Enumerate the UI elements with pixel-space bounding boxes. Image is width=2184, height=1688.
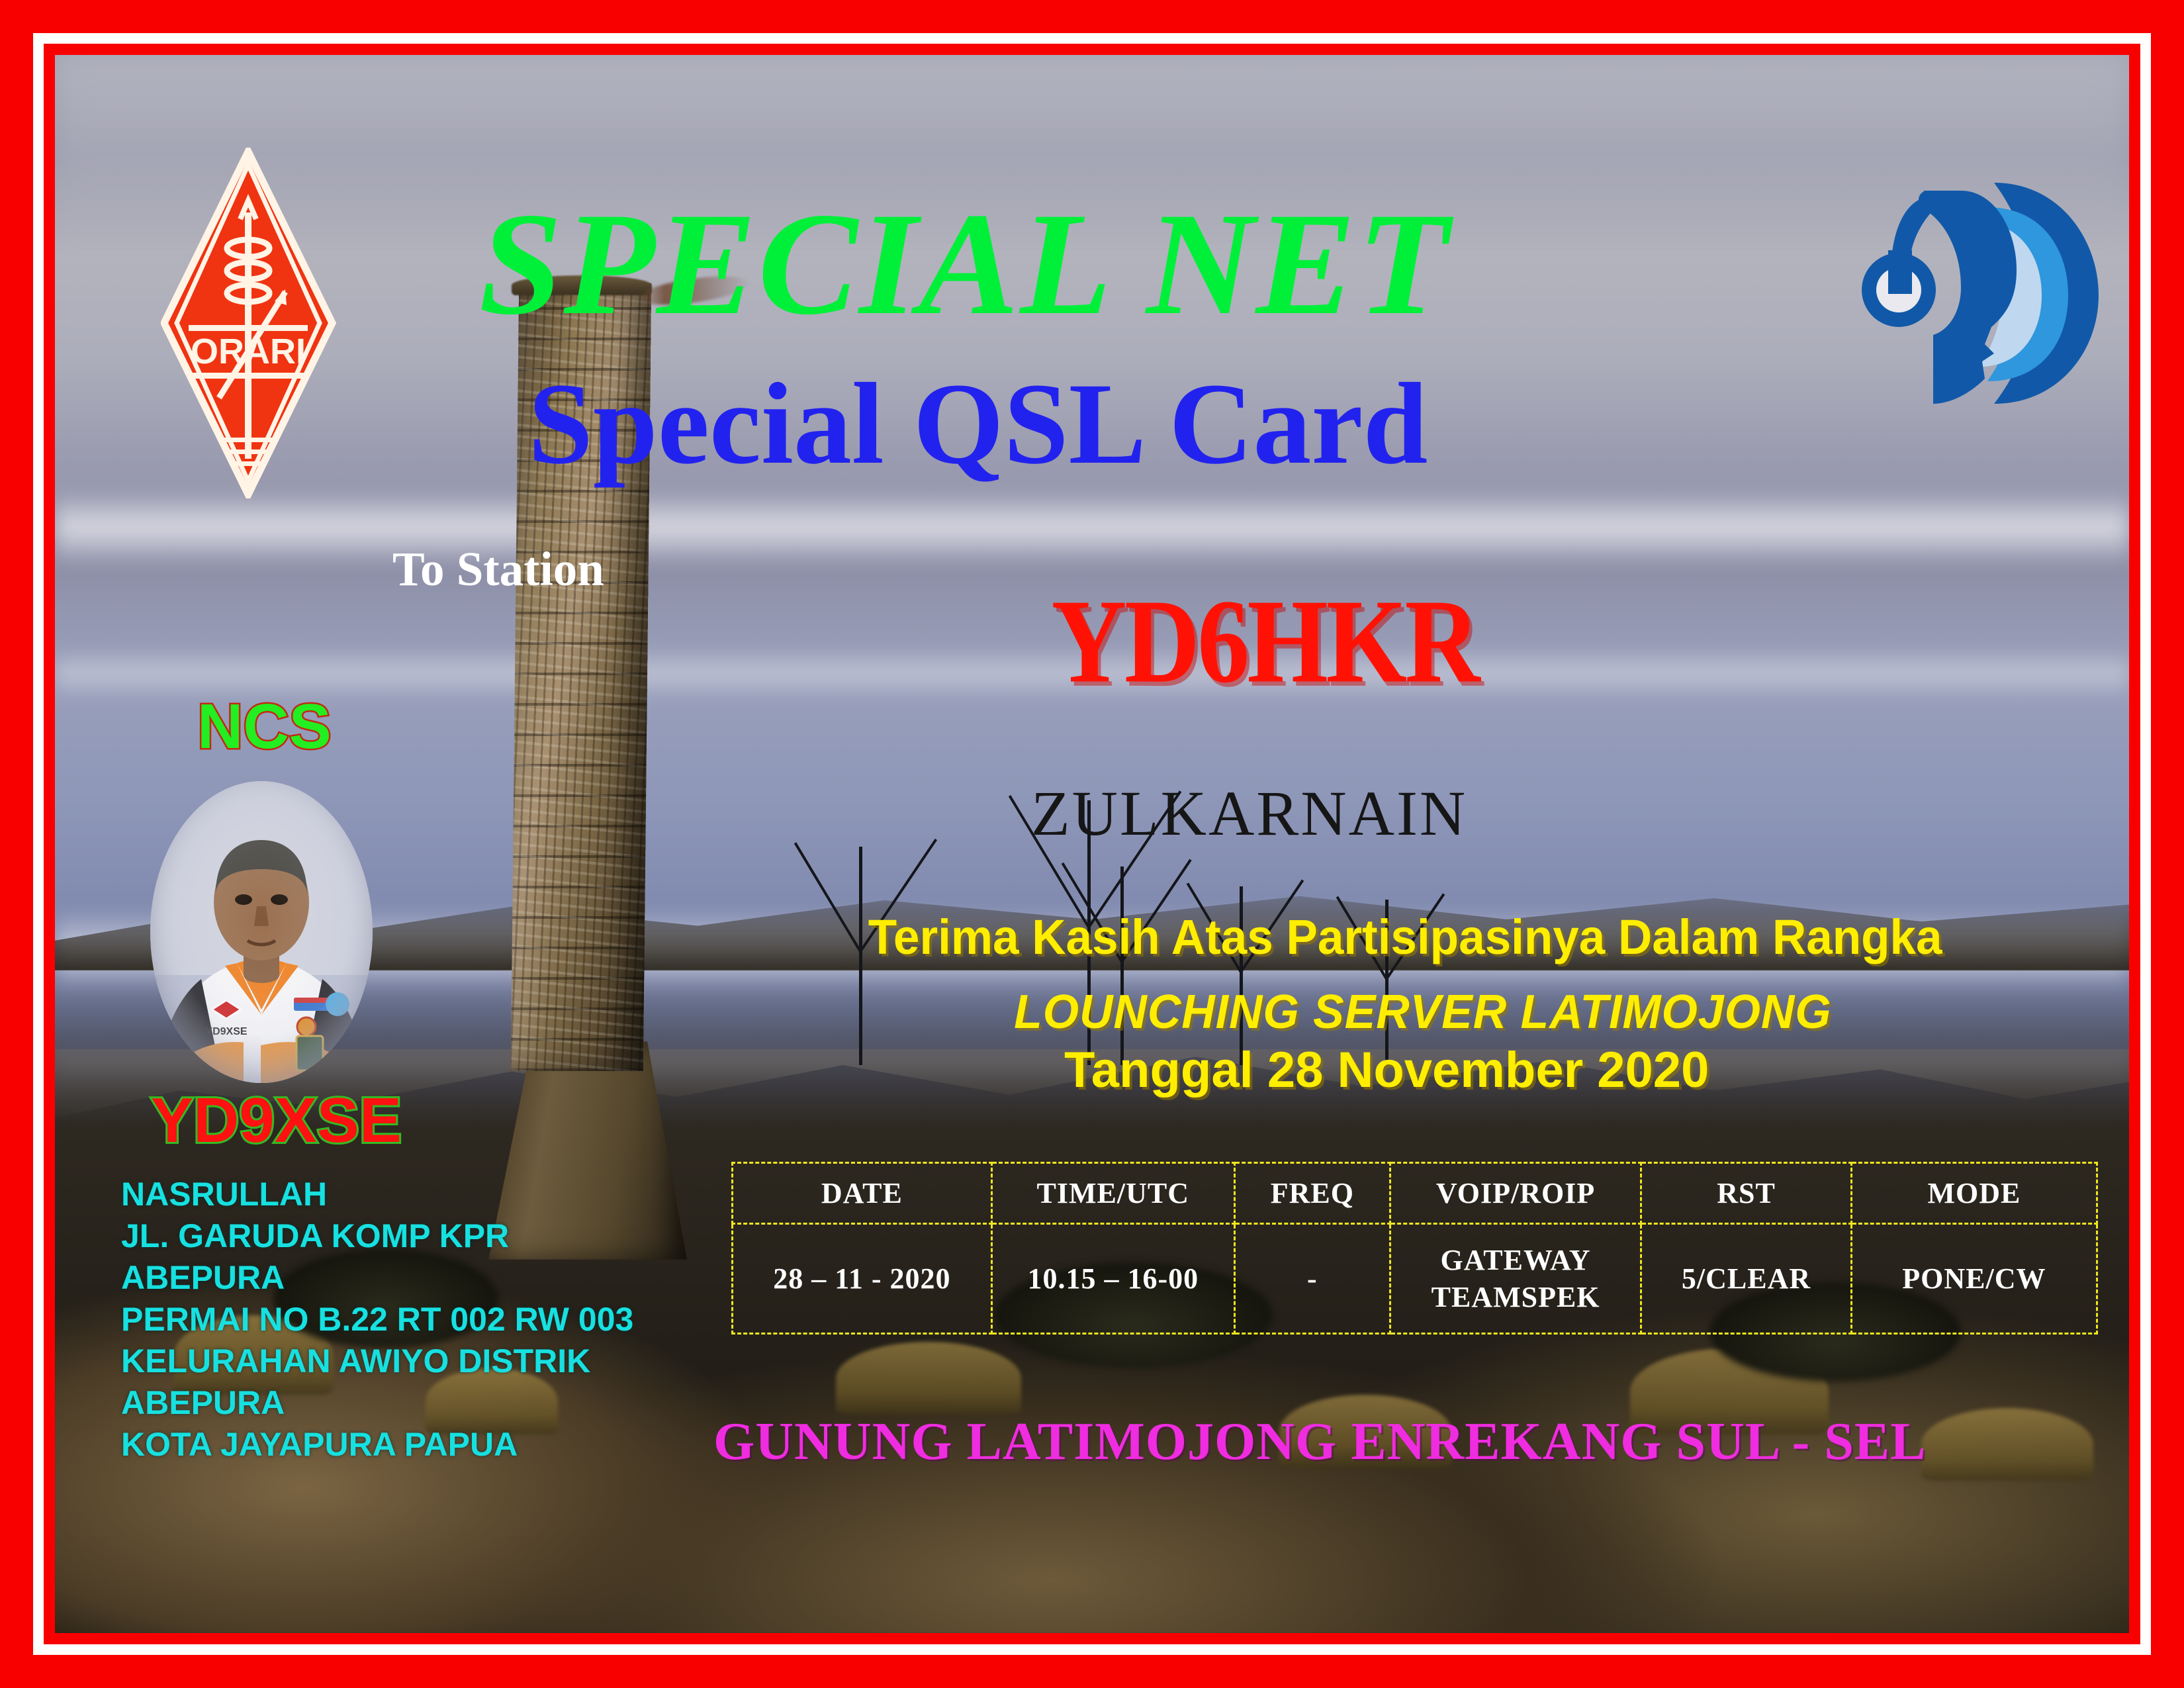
cell-rst: 5/CLEAR: [1641, 1224, 1852, 1334]
column-header-date: DATE: [733, 1163, 992, 1224]
address-line: ABEPURA: [121, 1257, 633, 1299]
grass-tuft: [1921, 1408, 2093, 1481]
page-title-special-net: SPECIAL NET: [479, 191, 1450, 338]
address-line: ABEPURA: [121, 1382, 633, 1424]
event-line: LOUNCHING SERVER LATIMOJONG: [1014, 985, 1832, 1039]
column-header-mode: MODE: [1851, 1163, 2097, 1224]
radio-headset-profile-logo: [1855, 171, 2107, 416]
to-station-label: To Station: [392, 541, 604, 597]
orari-logo-text: ORARI: [191, 332, 306, 371]
cell-date: 28 – 11 - 2020: [733, 1224, 992, 1334]
ncs-label: NCS: [197, 690, 332, 763]
operator-name: ZULKARNAIN: [1031, 776, 1467, 850]
motto-text: "AMATIR RADIO ADALAH PROGRESIVE": [150, 1627, 1134, 1633]
cell-time: 10.15 – 16-00: [991, 1224, 1234, 1334]
column-header-freq: FREQ: [1234, 1163, 1390, 1224]
thanks-line: Terima Kasih Atas Partisipasinya Dalam R…: [868, 909, 1942, 965]
qsl-card-outer-frame: ORARI SPECIAL NET Specia: [0, 0, 2184, 1688]
station-callsign: YD6HKR: [1052, 573, 1478, 710]
cell-voip: GATEWAY TEAMSPEK: [1390, 1224, 1641, 1334]
ncs-callsign: YD9XSE: [151, 1084, 402, 1157]
cloud-band: [55, 492, 2129, 565]
address-line: JL. GARUDA KOMP KPR: [121, 1215, 633, 1257]
operator-portrait-photo: YD9XSE: [138, 776, 386, 1088]
bare-tree-silhouette: [859, 847, 862, 1065]
table-header-row: DATE TIME/UTC FREQ VOIP/ROIP RST MODE: [733, 1163, 2097, 1224]
location-line: GUNUNG LATIMOJONG ENREKANG SUL - SEL: [713, 1412, 1927, 1472]
page-subtitle-qsl-card: Special QSL Card: [528, 366, 1428, 483]
event-date: Tanggal 28 November 2020: [1064, 1041, 1709, 1099]
card-background-photo: ORARI SPECIAL NET Specia: [55, 55, 2129, 1633]
cell-voip-line2: TEAMSPEK: [1394, 1279, 1637, 1316]
cell-voip-line1: GATEWAY: [1394, 1242, 1637, 1279]
address-line: NASRULLAH: [121, 1174, 633, 1215]
column-header-voip: VOIP/ROIP: [1390, 1163, 1641, 1224]
table-row: 28 – 11 - 2020 10.15 – 16-00 - GATEWAY T…: [733, 1224, 2097, 1334]
qsl-card-inner-red-frame: ORARI SPECIAL NET Specia: [44, 44, 2140, 1644]
address-line: KELURAHAN AWIYO DISTRIK: [121, 1340, 633, 1382]
column-header-time: TIME/UTC: [991, 1163, 1234, 1224]
cell-freq: -: [1234, 1224, 1390, 1334]
grass-tuft: [836, 1342, 1021, 1415]
qsl-card-white-frame: ORARI SPECIAL NET Specia: [33, 33, 2151, 1655]
address-line: PERMAI NO B.22 RT 002 RW 003: [121, 1299, 633, 1340]
orari-diamond-logo: ORARI: [161, 148, 336, 498]
address-block: NASRULLAH JL. GARUDA KOMP KPR ABEPURA PE…: [121, 1174, 633, 1466]
website-address: Address : amatir.latimojong.com: [1299, 1624, 2040, 1633]
address-line: KOTA JAYAPURA PAPUA: [121, 1424, 633, 1466]
column-header-rst: RST: [1641, 1163, 1852, 1224]
qso-details-table: DATE TIME/UTC FREQ VOIP/ROIP RST MODE 28…: [731, 1162, 2098, 1335]
cell-mode: PONE/CW: [1851, 1224, 2097, 1334]
